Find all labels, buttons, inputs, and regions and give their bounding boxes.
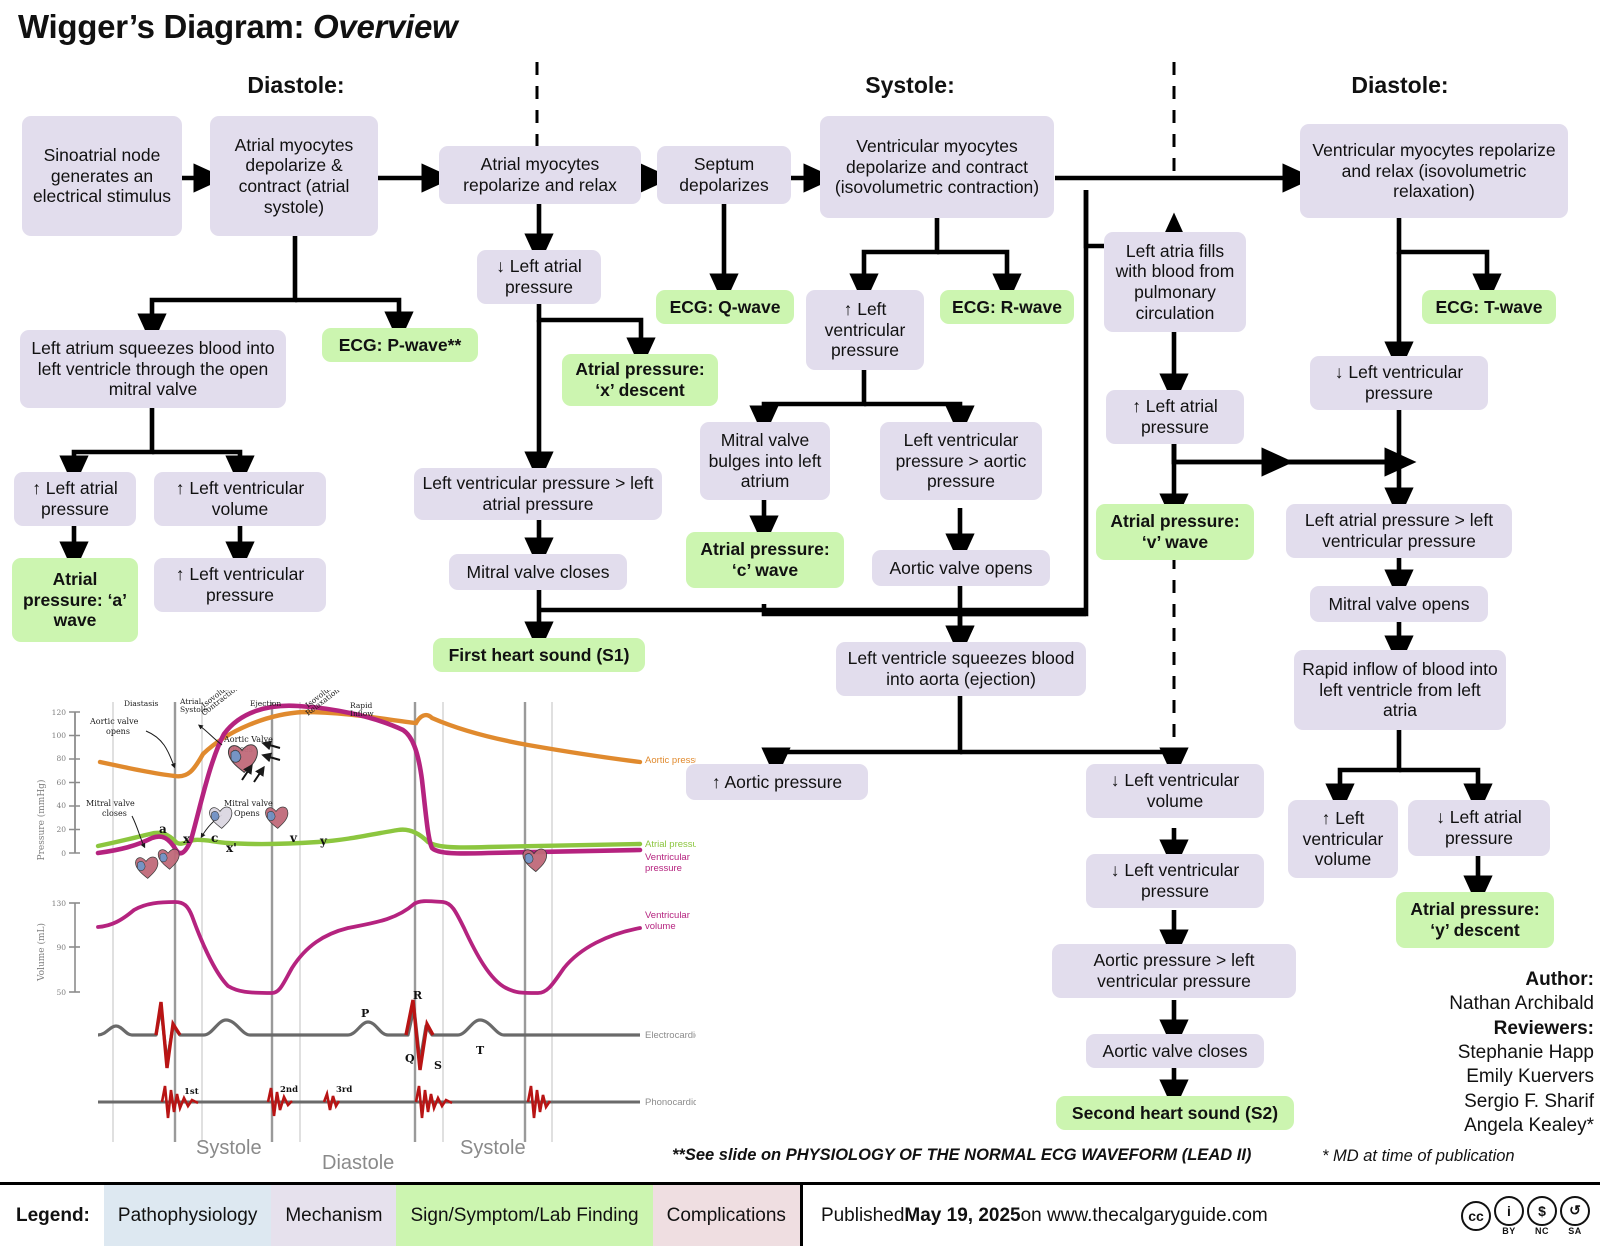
svg-text:Electrocardiogram: Electrocardiogram xyxy=(645,1030,696,1041)
node-aortic-opens[interactable]: Aortic valve opens xyxy=(872,550,1050,586)
svg-text:x: x xyxy=(183,832,191,846)
svg-text:opens: opens xyxy=(106,727,130,736)
legend-item-sign-symptom[interactable]: Sign/Symptom/Lab Finding xyxy=(396,1185,652,1246)
node-up-aortic[interactable]: ↑ Aortic pressure xyxy=(686,764,868,800)
svg-text:Aortic pressure: Aortic pressure xyxy=(645,755,696,766)
svg-text:60: 60 xyxy=(56,778,66,787)
page-title-italic: Overview xyxy=(313,8,457,45)
svg-text:Aortic Valve: Aortic Valve xyxy=(223,735,273,744)
svg-text:Q: Q xyxy=(405,1052,415,1065)
cc-icon: cc xyxy=(1461,1201,1491,1231)
svg-text:v: v xyxy=(289,831,298,845)
reviewer-name: Angela Kealey* xyxy=(1338,1114,1594,1138)
svg-text:y: y xyxy=(319,834,328,848)
svg-text:Volume (mL): Volume (mL) xyxy=(36,923,47,982)
node-ecg-p-wave[interactable]: ECG: P-wave** xyxy=(322,328,478,362)
svg-text:120: 120 xyxy=(52,708,67,717)
legend-bar: Legend: Pathophysiology Mechanism Sign/S… xyxy=(0,1182,1600,1246)
node-mitral-opens[interactable]: Mitral valve opens xyxy=(1310,586,1488,622)
node-sa-node[interactable]: Sinoatrial node generates an electrical … xyxy=(22,116,182,236)
svg-text:Mitral valve: Mitral valve xyxy=(86,799,135,808)
node-lvp-gt-aortic[interactable]: Left ventricular pressure > aortic press… xyxy=(880,422,1042,500)
legend-item-complications[interactable]: Complications xyxy=(653,1185,800,1246)
svg-text:Diastasis: Diastasis xyxy=(124,699,158,708)
svg-text:T: T xyxy=(476,1044,485,1057)
node-first-heart-sound[interactable]: First heart sound (S1) xyxy=(433,638,645,672)
node-lap-gt-lvp[interactable]: Left atrial pressure > left ventricular … xyxy=(1286,504,1512,558)
chart-cycle-label-systole-2: Systole xyxy=(460,1137,526,1160)
cc-by-icon: i xyxy=(1494,1196,1524,1226)
node-vent-depol[interactable]: Ventricular myocytes depolarize and cont… xyxy=(820,116,1054,218)
node-mitral-bulges[interactable]: Mitral valve bulges into left atrium xyxy=(700,422,830,500)
node-down-lvp[interactable]: ↓ Left ventricular pressure xyxy=(1310,356,1488,410)
node-ap-c-wave[interactable]: Atrial pressure: ‘c’ wave xyxy=(686,532,844,588)
node-up-lvp-2[interactable]: ↑ Left ventricular pressure xyxy=(806,290,924,370)
svg-text:pressure: pressure xyxy=(645,863,682,874)
node-up-lvp[interactable]: ↑ Left ventricular pressure xyxy=(154,558,326,612)
cc-sa-icon: ↺ xyxy=(1560,1196,1590,1226)
node-aortic-closes[interactable]: Aortic valve closes xyxy=(1086,1034,1264,1068)
cc-nc-label: NC xyxy=(1535,1226,1549,1236)
legend-item-pathophysiology[interactable]: Pathophysiology xyxy=(104,1185,271,1246)
node-rapid-inflow[interactable]: Rapid inflow of blood into left ventricl… xyxy=(1294,650,1506,730)
published-date: May 19, 2025 xyxy=(904,1205,1020,1227)
node-down-lap-2[interactable]: ↓ Left atrial pressure xyxy=(1408,800,1550,856)
node-up-lap[interactable]: ↑ Left atrial pressure xyxy=(14,472,136,526)
svg-text:Ejection: Ejection xyxy=(250,699,281,708)
published-suffix: on www.thecalgaryguide.com xyxy=(1021,1205,1268,1227)
svg-text:Inflow: Inflow xyxy=(350,709,374,718)
author-name: Nathan Archibald xyxy=(1338,992,1594,1016)
node-atrial-repol[interactable]: Atrial myocytes repolarize and relax xyxy=(439,146,641,204)
reviewer-name: Sergio F. Sharif xyxy=(1338,1090,1594,1114)
cc-nc-icon: $ xyxy=(1527,1196,1557,1226)
svg-text:c: c xyxy=(211,831,218,845)
svg-text:80: 80 xyxy=(56,754,66,763)
svg-text:volume: volume xyxy=(645,921,676,932)
creative-commons-license[interactable]: cc iBY $NC ↺SA xyxy=(1461,1185,1600,1246)
svg-text:100: 100 xyxy=(52,731,67,740)
node-ecg-t-wave[interactable]: ECG: T-wave xyxy=(1422,290,1556,324)
chart-cycle-label-systole-1: Systole xyxy=(196,1137,262,1160)
svg-text:20: 20 xyxy=(56,825,66,834)
md-footnote: * MD at time of publication xyxy=(1322,1147,1515,1166)
svg-text:1st: 1st xyxy=(184,1087,199,1097)
legend-item-mechanism[interactable]: Mechanism xyxy=(271,1185,396,1246)
cc-sa-label: SA xyxy=(1568,1226,1582,1236)
node-vent-repol[interactable]: Ventricular myocytes repolarize and rela… xyxy=(1300,124,1568,218)
node-ap-y-descent[interactable]: Atrial pressure: ‘y’ descent xyxy=(1396,892,1554,948)
phase-heading-diastole-1: Diastole: xyxy=(186,72,406,99)
node-atrial-depol[interactable]: Atrial myocytes depolarize & contract (a… xyxy=(210,116,378,236)
page-title: Wigger’s Diagram: Overview xyxy=(18,8,457,46)
reviewers-label: Reviewers: xyxy=(1494,1018,1594,1039)
node-lv-ejection[interactable]: Left ventricle squeezes blood into aorta… xyxy=(836,642,1086,696)
svg-text:0: 0 xyxy=(61,849,66,858)
ecg-footnote: **See slide on PHYSIOLOGY OF THE NORMAL … xyxy=(672,1146,1251,1165)
svg-text:Atrial pressure: Atrial pressure xyxy=(645,839,696,850)
svg-text:x': x' xyxy=(226,841,237,855)
phase-heading-diastole-2: Diastole: xyxy=(1290,72,1510,99)
node-ap-x-descent[interactable]: Atrial pressure: ‘x’ descent xyxy=(562,354,718,406)
svg-text:closes: closes xyxy=(102,809,127,818)
credits-block: Author: Nathan Archibald Reviewers: Step… xyxy=(1338,968,1594,1138)
svg-text:90: 90 xyxy=(56,943,66,952)
svg-text:50: 50 xyxy=(56,988,66,997)
reviewer-name: Stephanie Happ xyxy=(1338,1041,1594,1065)
author-label: Author: xyxy=(1525,969,1594,990)
svg-text:3rd: 3rd xyxy=(336,1085,352,1095)
node-up-lvv[interactable]: ↑ Left ventricular volume xyxy=(154,472,326,526)
node-up-lvv-2[interactable]: ↑ Left ventricular volume xyxy=(1288,800,1398,878)
wiggers-chart: 12010080 6040200 Pressure (mmHg) 1309050… xyxy=(28,690,696,1190)
phase-heading-systole: Systole: xyxy=(800,72,1020,99)
reviewer-name: Emily Kuervers xyxy=(1338,1065,1594,1089)
legend-title: Legend: xyxy=(0,1185,104,1246)
svg-text:Opens: Opens xyxy=(234,809,260,818)
node-down-lvp-2[interactable]: ↓ Left ventricular pressure xyxy=(1086,854,1264,908)
svg-text:R: R xyxy=(413,989,423,1002)
cc-by-label: BY xyxy=(1502,1226,1516,1236)
node-down-lap[interactable]: ↓ Left atrial pressure xyxy=(477,250,601,304)
node-up-lap-2[interactable]: ↑ Left atrial pressure xyxy=(1106,390,1244,444)
svg-text:2nd: 2nd xyxy=(280,1085,298,1095)
node-mitral-closes[interactable]: Mitral valve closes xyxy=(449,554,627,590)
svg-text:Ventricular: Ventricular xyxy=(645,852,690,863)
svg-text:Phonocardiogram: Phonocardiogram xyxy=(645,1097,696,1108)
svg-text:P: P xyxy=(361,1007,369,1020)
node-ecg-r-wave[interactable]: ECG: R-wave xyxy=(940,290,1074,324)
node-second-heart-sound[interactable]: Second heart sound (S2) xyxy=(1056,1096,1294,1130)
svg-text:a: a xyxy=(159,822,167,836)
publication-info: Published May 19, 2025 on www.thecalgary… xyxy=(803,1185,1286,1246)
published-prefix: Published xyxy=(821,1205,904,1227)
chart-cycle-label-diastole: Diastole xyxy=(322,1152,394,1175)
node-aortic-gt-lvp[interactable]: Aortic pressure > left ventricular press… xyxy=(1052,944,1296,998)
node-la-squeezes[interactable]: Left atrium squeezes blood into left ven… xyxy=(20,330,286,408)
svg-text:Aortic valve: Aortic valve xyxy=(89,717,139,726)
node-ap-v-wave[interactable]: Atrial pressure: ‘v’ wave xyxy=(1096,504,1254,560)
node-la-fills[interactable]: Left atria fills with blood from pulmona… xyxy=(1104,232,1246,332)
node-ap-a-wave[interactable]: Atrial pressure: ‘a’ wave xyxy=(12,558,138,642)
page-title-main: Wigger’s Diagram: xyxy=(18,8,313,45)
node-lvp-gt-lap[interactable]: Left ventricular pressure > left atrial … xyxy=(414,468,662,520)
node-down-lvv[interactable]: ↓ Left ventricular volume xyxy=(1086,764,1264,818)
svg-text:S: S xyxy=(434,1059,442,1072)
node-ecg-q-wave[interactable]: ECG: Q-wave xyxy=(656,290,794,324)
svg-text:Ventricular: Ventricular xyxy=(645,910,690,921)
svg-text:130: 130 xyxy=(52,899,67,908)
node-septum-depol[interactable]: Septum depolarizes xyxy=(657,146,791,204)
svg-text:Pressure (mmHg): Pressure (mmHg) xyxy=(36,780,47,861)
svg-text:40: 40 xyxy=(56,801,66,810)
svg-text:Mitral valve: Mitral valve xyxy=(224,799,273,808)
